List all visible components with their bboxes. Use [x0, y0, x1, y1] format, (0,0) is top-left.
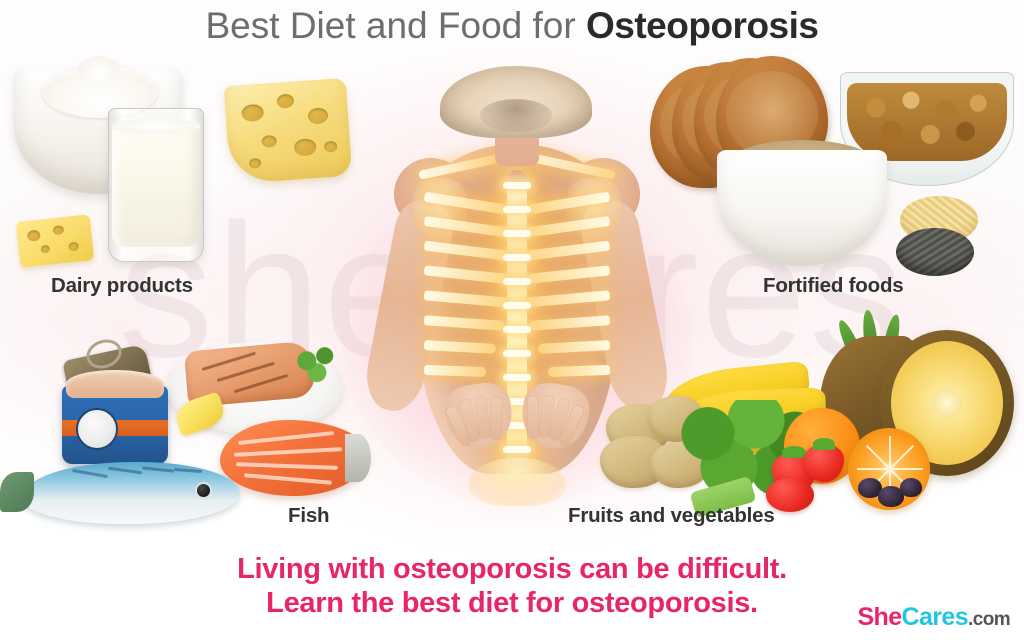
category-label-dairy: Dairy products: [51, 274, 193, 298]
hair: [440, 66, 592, 138]
salmon-steak-icon: [220, 420, 368, 496]
caption-line-1: Living with osteoporosis can be difficul…: [0, 552, 1024, 586]
yogurt-peak-icon: [78, 56, 120, 82]
category-label-fruits: Fruits and vegetables: [568, 504, 775, 528]
logo-cares: Cares: [902, 603, 969, 631]
pelvis-glow: [468, 458, 566, 506]
herb-garnish-icon: [290, 344, 346, 386]
dried-berry-icon: [900, 478, 922, 497]
page-title-light: Best Diet and Food for: [206, 5, 586, 46]
mackerel-fish-icon: [22, 462, 240, 524]
infographic-canvas: shecares Best Diet and Food for Osteopor…: [0, 0, 1024, 640]
page-title-bold: Osteoporosis: [586, 5, 819, 46]
page-title: Best Diet and Food for Osteoporosis: [0, 2, 1024, 50]
category-label-fortified: Fortified foods: [763, 274, 903, 298]
swiss-cheese-wedge-icon: [224, 78, 353, 184]
shecares-logo[interactable]: SheCares.com: [857, 605, 1010, 630]
tuna-can-icon: [62, 386, 168, 464]
category-label-fish: Fish: [288, 504, 329, 528]
cheese-slice-icon: [16, 214, 94, 267]
logo-she: She: [857, 603, 901, 631]
milk-glass-icon: [108, 108, 204, 262]
logo-com: .com: [968, 609, 1010, 630]
pasta-nest-dark-icon: [896, 228, 974, 276]
